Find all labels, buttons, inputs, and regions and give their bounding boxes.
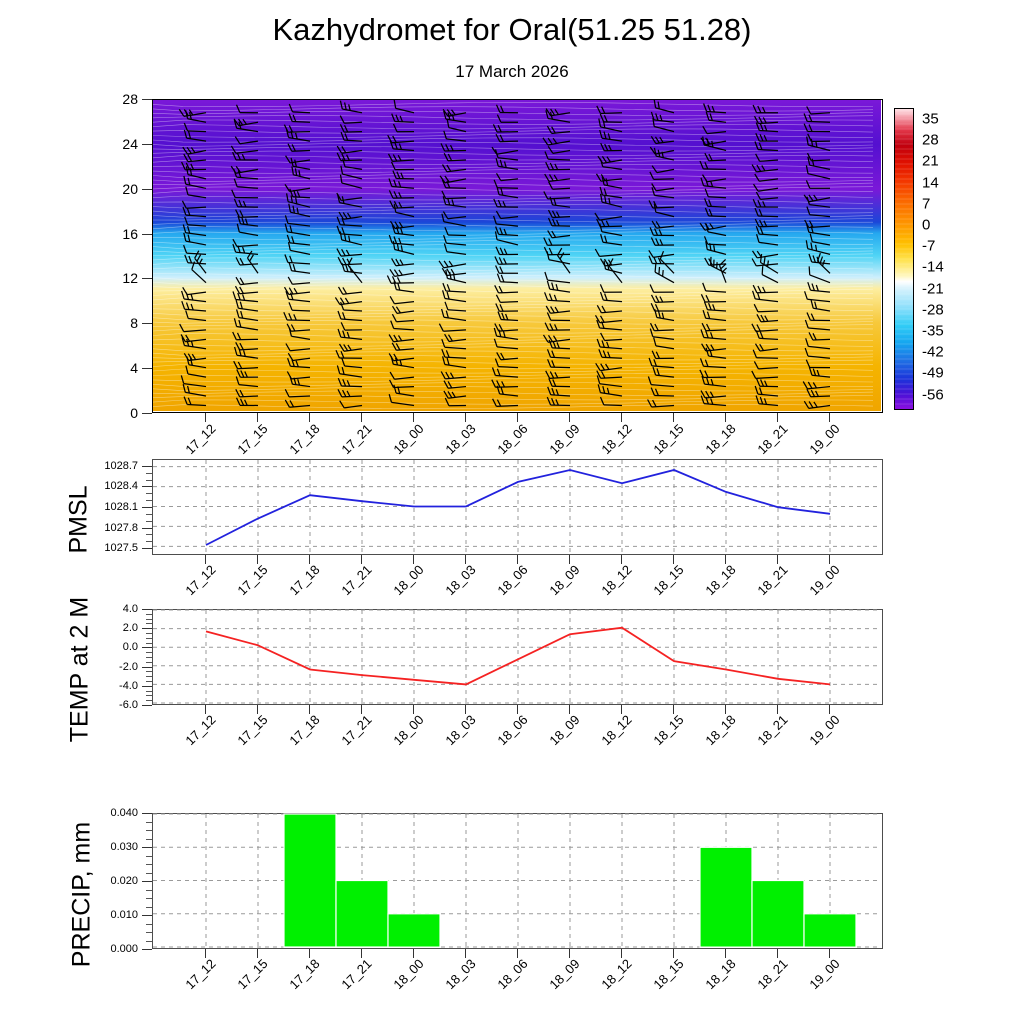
colorbar-tick-label: -35 bbox=[922, 323, 944, 340]
y-tick bbox=[142, 609, 152, 610]
y-minor-tick bbox=[146, 671, 152, 672]
y-minor-tick bbox=[146, 924, 152, 925]
x-tick-label: 18_21 bbox=[741, 712, 790, 761]
x-tick-label: 18_15 bbox=[637, 562, 686, 611]
y-tick bbox=[142, 323, 152, 324]
y-tick bbox=[142, 686, 152, 687]
y-tick bbox=[142, 189, 152, 190]
y-tick-label: 8 bbox=[72, 315, 138, 331]
x-tick-label: 17_21 bbox=[325, 562, 374, 611]
x-tick-label: 18_06 bbox=[481, 956, 530, 1005]
pmsl-panel bbox=[152, 459, 883, 555]
y-tick bbox=[142, 486, 152, 487]
x-tick-label: 17_15 bbox=[221, 562, 270, 611]
colorbar-tick-label: -42 bbox=[922, 344, 944, 361]
page-title: Kazhydromet for Oral(51.25 51.28) bbox=[0, 12, 1024, 48]
y-minor-tick bbox=[146, 643, 152, 644]
x-tick-label: 18_15 bbox=[637, 956, 686, 1005]
x-tick-label: 18_18 bbox=[689, 562, 738, 611]
x-tick-label: 17_18 bbox=[273, 712, 322, 761]
y-minor-tick bbox=[146, 695, 152, 696]
figure-root: Kazhydromet for Oral(51.25 51.28) 17 Mar… bbox=[0, 0, 1024, 1024]
x-tick-label: 18_06 bbox=[481, 562, 530, 611]
y-tick-label: 1028.4 bbox=[72, 480, 138, 492]
x-tick bbox=[829, 413, 830, 422]
y-minor-tick bbox=[146, 856, 152, 857]
x-tick bbox=[257, 413, 258, 422]
colorbar-tick-label: -49 bbox=[922, 365, 944, 382]
y-tick bbox=[142, 234, 152, 235]
colorbar-tick-label: 28 bbox=[922, 132, 939, 149]
y-minor-tick bbox=[146, 676, 152, 677]
y-tick-label: -4.0 bbox=[72, 680, 138, 692]
y-minor-tick bbox=[146, 473, 152, 474]
y-minor-tick bbox=[146, 614, 152, 615]
y-minor-tick bbox=[146, 633, 152, 634]
x-tick-label: 18_15 bbox=[637, 712, 686, 761]
y-tick-label: 0 bbox=[72, 405, 138, 421]
x-tick-label: 18_00 bbox=[377, 562, 426, 611]
y-tick-label: 28 bbox=[72, 91, 138, 107]
y-tick bbox=[142, 647, 152, 648]
y-minor-tick bbox=[146, 534, 152, 535]
cross-section-panel bbox=[152, 99, 883, 413]
x-tick-label: 18_00 bbox=[377, 956, 426, 1005]
grid-lines bbox=[153, 610, 881, 703]
precip-panel bbox=[152, 813, 883, 949]
colorbar-tick-label: -21 bbox=[922, 280, 944, 297]
x-tick bbox=[205, 413, 206, 422]
y-tick-label: 2.0 bbox=[72, 622, 138, 634]
y-tick-label: 0.040 bbox=[72, 807, 138, 819]
y-tick bbox=[142, 144, 152, 145]
y-tick-label: 12 bbox=[72, 270, 138, 286]
grid-lines bbox=[153, 460, 881, 553]
y-tick-label: 1027.8 bbox=[72, 522, 138, 534]
y-tick-label: 4.0 bbox=[72, 603, 138, 615]
y-minor-tick bbox=[146, 493, 152, 494]
y-tick bbox=[142, 507, 152, 508]
x-tick-label: 18_03 bbox=[429, 562, 478, 611]
y-tick bbox=[142, 548, 152, 549]
x-tick-label: 19_00 bbox=[793, 712, 842, 761]
y-tick-label: 0.0 bbox=[72, 641, 138, 653]
y-minor-tick bbox=[146, 890, 152, 891]
x-tick-label: 17_21 bbox=[325, 956, 374, 1005]
y-minor-tick bbox=[146, 873, 152, 874]
x-tick-label: 17_21 bbox=[325, 712, 374, 761]
x-tick-label: 18_12 bbox=[585, 956, 634, 1005]
x-tick bbox=[361, 413, 362, 422]
y-tick bbox=[142, 705, 152, 706]
precip-bar bbox=[284, 814, 336, 947]
y-minor-tick bbox=[146, 657, 152, 658]
temp-plot bbox=[153, 610, 881, 703]
y-tick-label: 20 bbox=[72, 181, 138, 197]
y-tick-label: 0.010 bbox=[72, 909, 138, 921]
colorbar-tick-label: -56 bbox=[922, 386, 944, 403]
colorbar-tick-label: 21 bbox=[922, 153, 939, 170]
x-tick-label: 17_18 bbox=[273, 562, 322, 611]
y-tick bbox=[142, 628, 152, 629]
x-tick-label: 19_00 bbox=[793, 956, 842, 1005]
x-tick bbox=[777, 413, 778, 422]
colorbar-tick-label: -14 bbox=[922, 259, 944, 276]
y-tick-label: 1028.7 bbox=[72, 460, 138, 472]
precip-bar bbox=[804, 914, 856, 947]
y-minor-tick bbox=[146, 941, 152, 942]
x-tick-label: 19_00 bbox=[793, 562, 842, 611]
y-tick-label: 1028.1 bbox=[72, 501, 138, 513]
x-tick-label: 18_00 bbox=[377, 712, 426, 761]
x-tick-label: 18_21 bbox=[741, 956, 790, 1005]
y-minor-tick bbox=[146, 822, 152, 823]
y-tick-label: -6.0 bbox=[72, 699, 138, 711]
y-minor-tick bbox=[146, 541, 152, 542]
x-tick-label: 18_18 bbox=[689, 956, 738, 1005]
x-tick-label: 18_21 bbox=[741, 562, 790, 611]
x-tick-label: 17_15 bbox=[221, 712, 270, 761]
y-tick bbox=[142, 949, 152, 950]
y-tick bbox=[142, 813, 152, 814]
colorbar-tick-label: -28 bbox=[922, 301, 944, 318]
x-tick-label: 18_03 bbox=[429, 956, 478, 1005]
y-tick-label: -2.0 bbox=[72, 661, 138, 673]
precip-bar bbox=[388, 914, 440, 947]
y-minor-tick bbox=[146, 638, 152, 639]
colorbar bbox=[894, 108, 914, 410]
y-tick-label: 0.020 bbox=[72, 875, 138, 887]
y-minor-tick bbox=[146, 500, 152, 501]
y-tick-label: 24 bbox=[72, 136, 138, 152]
colorbar-tick-label: 14 bbox=[922, 174, 939, 191]
colorbar-tick-label: 0 bbox=[922, 217, 930, 234]
y-minor-tick bbox=[146, 652, 152, 653]
y-tick bbox=[142, 368, 152, 369]
y-minor-tick bbox=[146, 623, 152, 624]
x-tick bbox=[465, 413, 466, 422]
x-tick-label: 17_18 bbox=[273, 956, 322, 1005]
precip-bar bbox=[752, 881, 804, 948]
y-minor-tick bbox=[146, 691, 152, 692]
x-tick bbox=[569, 413, 570, 422]
cross-section-plot bbox=[153, 100, 881, 411]
y-minor-tick bbox=[146, 619, 152, 620]
x-tick bbox=[621, 413, 622, 422]
y-tick-label: 1027.5 bbox=[72, 542, 138, 554]
x-tick bbox=[673, 413, 674, 422]
x-tick-label: 18_12 bbox=[585, 562, 634, 611]
y-tick bbox=[142, 99, 152, 100]
y-minor-tick bbox=[146, 932, 152, 933]
y-minor-tick bbox=[146, 514, 152, 515]
y-minor-tick bbox=[146, 830, 152, 831]
y-tick bbox=[142, 915, 152, 916]
y-tick bbox=[142, 528, 152, 529]
x-tick-label: 18_09 bbox=[533, 956, 582, 1005]
x-tick-label: 17_12 bbox=[169, 956, 218, 1005]
page-subtitle: 17 March 2026 bbox=[0, 62, 1024, 82]
y-minor-tick bbox=[146, 839, 152, 840]
y-tick bbox=[142, 881, 152, 882]
y-minor-tick bbox=[146, 521, 152, 522]
y-tick bbox=[142, 466, 152, 467]
temp-panel bbox=[152, 609, 883, 705]
y-tick bbox=[142, 413, 152, 414]
x-tick bbox=[309, 413, 310, 422]
y-tick-label: 16 bbox=[72, 226, 138, 242]
x-tick bbox=[413, 413, 414, 422]
y-minor-tick bbox=[146, 700, 152, 701]
x-tick-label: 17_12 bbox=[169, 712, 218, 761]
x-tick-label: 18_12 bbox=[585, 712, 634, 761]
pmsl-plot bbox=[153, 460, 881, 553]
colorbar-tick-label: 35 bbox=[922, 111, 939, 128]
precip-plot bbox=[153, 814, 881, 947]
y-tick bbox=[142, 847, 152, 848]
x-tick-label: 17_15 bbox=[221, 956, 270, 1005]
x-tick-label: 18_03 bbox=[429, 712, 478, 761]
y-minor-tick bbox=[146, 907, 152, 908]
y-tick bbox=[142, 667, 152, 668]
colorbar-gradient bbox=[895, 109, 913, 409]
x-tick-label: 18_06 bbox=[481, 712, 530, 761]
y-tick bbox=[142, 278, 152, 279]
x-tick-label: 18_09 bbox=[533, 712, 582, 761]
y-minor-tick bbox=[146, 681, 152, 682]
y-minor-tick bbox=[146, 480, 152, 481]
precip-bar bbox=[336, 881, 388, 948]
y-minor-tick bbox=[146, 864, 152, 865]
y-minor-tick bbox=[146, 898, 152, 899]
colorbar-tick-label: 7 bbox=[922, 195, 930, 212]
y-minor-tick bbox=[146, 662, 152, 663]
x-tick bbox=[725, 413, 726, 422]
x-tick-label: 18_09 bbox=[533, 562, 582, 611]
colorbar-tick-label: -7 bbox=[922, 238, 935, 255]
y-tick-label: 0.030 bbox=[72, 841, 138, 853]
y-tick-label: 0.000 bbox=[72, 943, 138, 955]
x-tick-label: 17_12 bbox=[169, 562, 218, 611]
x-tick-label: 18_18 bbox=[689, 712, 738, 761]
precip-bar bbox=[700, 847, 752, 947]
y-tick-label: 4 bbox=[72, 360, 138, 376]
x-tick bbox=[517, 413, 518, 422]
